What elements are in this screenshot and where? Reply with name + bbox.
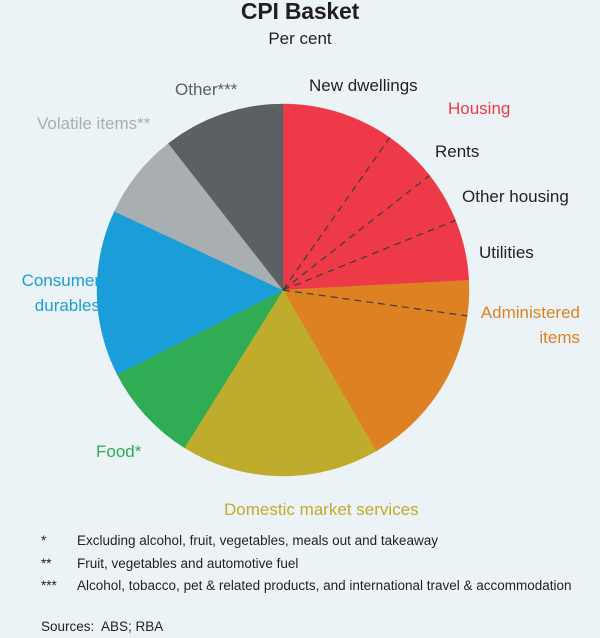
label-utilities: Utilities xyxy=(479,243,534,263)
cpi-basket-chart: CPI Basket Per cent New dwellings Housin… xyxy=(0,0,600,638)
footnote-row: ** Fruit, vegetables and automotive fuel xyxy=(41,554,581,574)
footnote-marker: * xyxy=(41,531,77,551)
footnote-text: Fruit, vegetables and automotive fuel xyxy=(77,554,581,574)
pie-slice xyxy=(283,104,469,290)
footnote-text: Alcohol, tobacco, pet & related products… xyxy=(77,576,581,596)
label-administered-items-line2: items xyxy=(420,328,580,348)
label-housing: Housing xyxy=(448,99,510,119)
footnote-marker: *** xyxy=(41,576,77,596)
label-rents: Rents xyxy=(435,142,479,162)
footnote-text: Excluding alcohol, fruit, vegetables, me… xyxy=(77,531,581,551)
label-other-housing: Other housing xyxy=(462,187,569,207)
footnote-row: *** Alcohol, tobacco, pet & related prod… xyxy=(41,576,581,596)
label-volatile-items: Volatile items** xyxy=(37,114,150,134)
label-administered-items-line1: Administered xyxy=(420,303,580,323)
footnote-marker: ** xyxy=(41,554,77,574)
label-food: Food* xyxy=(96,442,141,462)
label-new-dwellings: New dwellings xyxy=(309,76,418,96)
label-domestic-market-services: Domestic market services xyxy=(224,500,419,520)
footnote-list: * Excluding alcohol, fruit, vegetables, … xyxy=(41,531,581,599)
label-consumer-durables-line2: durables xyxy=(2,296,100,316)
label-other: Other*** xyxy=(175,80,237,100)
footnote-row: * Excluding alcohol, fruit, vegetables, … xyxy=(41,531,581,551)
sources-line: Sources: ABS; RBA xyxy=(41,618,163,636)
label-consumer-durables-line1: Consumer xyxy=(2,271,100,291)
